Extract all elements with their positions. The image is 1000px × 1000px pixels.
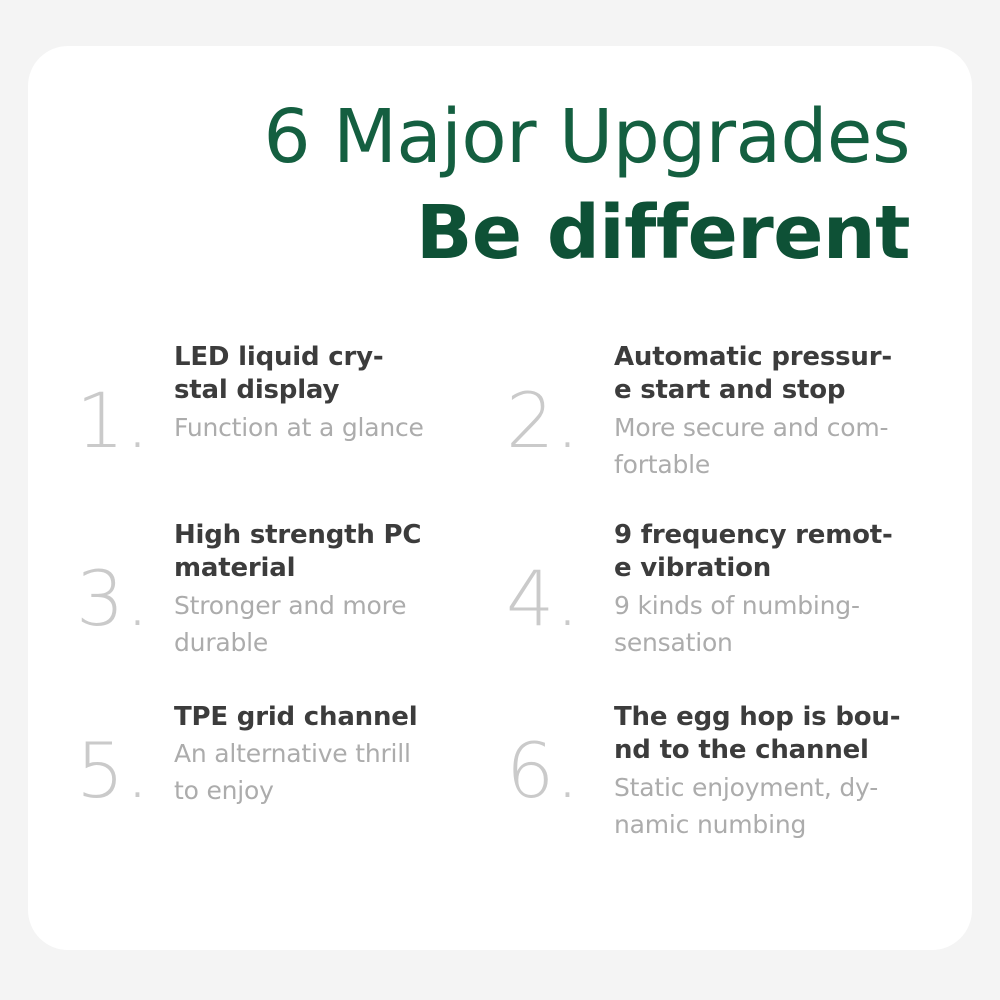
feature-text-block-2: Automatic pressur- e start and stop More… xyxy=(614,341,964,483)
page-title-line-1: 6 Major Upgrades xyxy=(113,101,910,174)
feature-number-6: 6. xyxy=(506,733,606,809)
feature-text-block-3: High strength PC material Stronger and m… xyxy=(174,519,514,661)
feature-title-5: TPE grid channel xyxy=(174,701,514,734)
feature-text-block-6: The egg hop is bou- nd to the channel St… xyxy=(614,701,964,843)
feature-number-3: 3. xyxy=(76,561,176,637)
feature-subtitle-1: Function at a glance xyxy=(174,409,514,446)
page-title-line-2: Be different xyxy=(113,196,910,270)
feature-title-6: The egg hop is bou- nd to the channel xyxy=(614,701,964,768)
feature-subtitle-6: Static enjoyment, dy- namic numbing xyxy=(614,769,964,843)
feature-text-block-5: TPE grid channel An alternative thrill t… xyxy=(174,701,514,809)
feature-number-5: 5. xyxy=(76,733,176,809)
feature-list: 1. LED liquid cry- stal display Function… xyxy=(28,341,972,941)
feature-number-1: 1. xyxy=(76,383,176,459)
feature-number-2: 2. xyxy=(506,383,606,459)
feature-subtitle-4: 9 kinds of numbing- sensation xyxy=(614,587,964,661)
feature-title-3: High strength PC material xyxy=(174,519,514,586)
feature-subtitle-2: More secure and com- fortable xyxy=(614,409,964,483)
feature-card: 6 Major Upgrades Be different 1. LED liq… xyxy=(28,46,972,950)
feature-text-block-1: LED liquid cry- stal display Function at… xyxy=(174,341,514,446)
page-root: 6 Major Upgrades Be different 1. LED liq… xyxy=(0,0,1000,1000)
feature-subtitle-5: An alternative thrill to enjoy xyxy=(174,735,514,809)
feature-subtitle-3: Stronger and more durable xyxy=(174,587,514,661)
feature-title-4: 9 frequency remot- e vibration xyxy=(614,519,964,586)
feature-number-4: 4. xyxy=(506,561,606,637)
feature-title-1: LED liquid cry- stal display xyxy=(174,341,514,408)
page-title: 6 Major Upgrades Be different xyxy=(113,101,910,270)
feature-text-block-4: 9 frequency remot- e vibration 9 kinds o… xyxy=(614,519,964,661)
feature-title-2: Automatic pressur- e start and stop xyxy=(614,341,964,408)
